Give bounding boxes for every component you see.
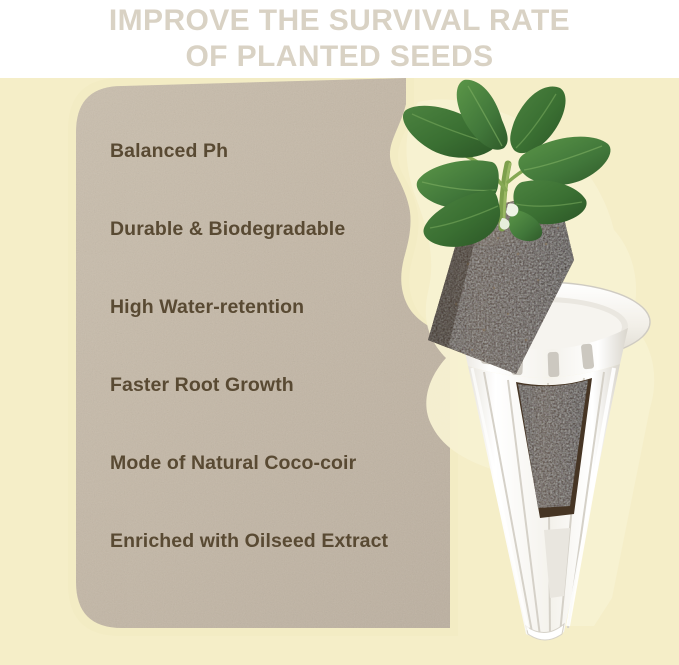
page-title-line-1: IMPROVE THE SURVIVAL RATE — [109, 3, 570, 39]
page-title-line-2: OF PLANTED SEEDS — [185, 39, 493, 75]
benefit-item-natural-coco-coir: Mode of Natural Coco-coir — [110, 424, 440, 502]
seedling-illustration — [398, 78, 679, 665]
poster-header: IMPROVE THE SURVIVAL RATE OF PLANTED SEE… — [0, 0, 679, 80]
benefit-item-high-water-retention: High Water-retention — [110, 268, 440, 346]
benefit-list: Balanced Ph Durable & Biodegradable High… — [110, 112, 440, 580]
poster-root: IMPROVE THE SURVIVAL RATE OF PLANTED SEE… — [0, 0, 679, 665]
benefit-item-balanced-ph: Balanced Ph — [110, 112, 440, 190]
benefit-item-oilseed-extract: Enriched with Oilseed Extract — [110, 502, 440, 580]
benefit-item-durable-biodegradable: Durable & Biodegradable — [110, 190, 440, 268]
benefit-item-faster-root-growth: Faster Root Growth — [110, 346, 440, 424]
product-image — [398, 78, 679, 665]
